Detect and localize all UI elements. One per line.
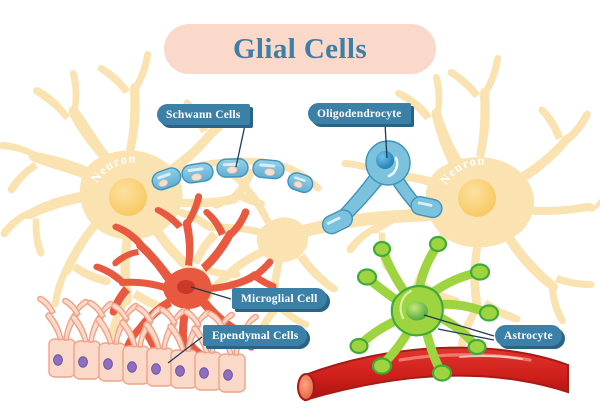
label-microglial-cell[interactable]: Microglial Cell xyxy=(232,288,327,309)
label-oligodendrocyte[interactable]: Oligodendrocyte xyxy=(308,103,411,124)
label-ependymal-cells[interactable]: Ependymal Cells xyxy=(203,325,307,346)
astrocyte-nucleus xyxy=(406,302,428,321)
neuron-nucleus xyxy=(458,179,496,217)
page-title: Glial Cells xyxy=(164,24,436,74)
neuron-nucleus xyxy=(109,178,147,216)
label-schwann-cells[interactable]: Schwann Cells xyxy=(157,104,250,125)
diagram-canvas: Neuron Neuron Glial Cells Schwann Cells … xyxy=(0,0,600,411)
oligodendrocyte-nucleus xyxy=(376,151,394,169)
label-astrocyte[interactable]: Astrocyte xyxy=(495,325,562,346)
